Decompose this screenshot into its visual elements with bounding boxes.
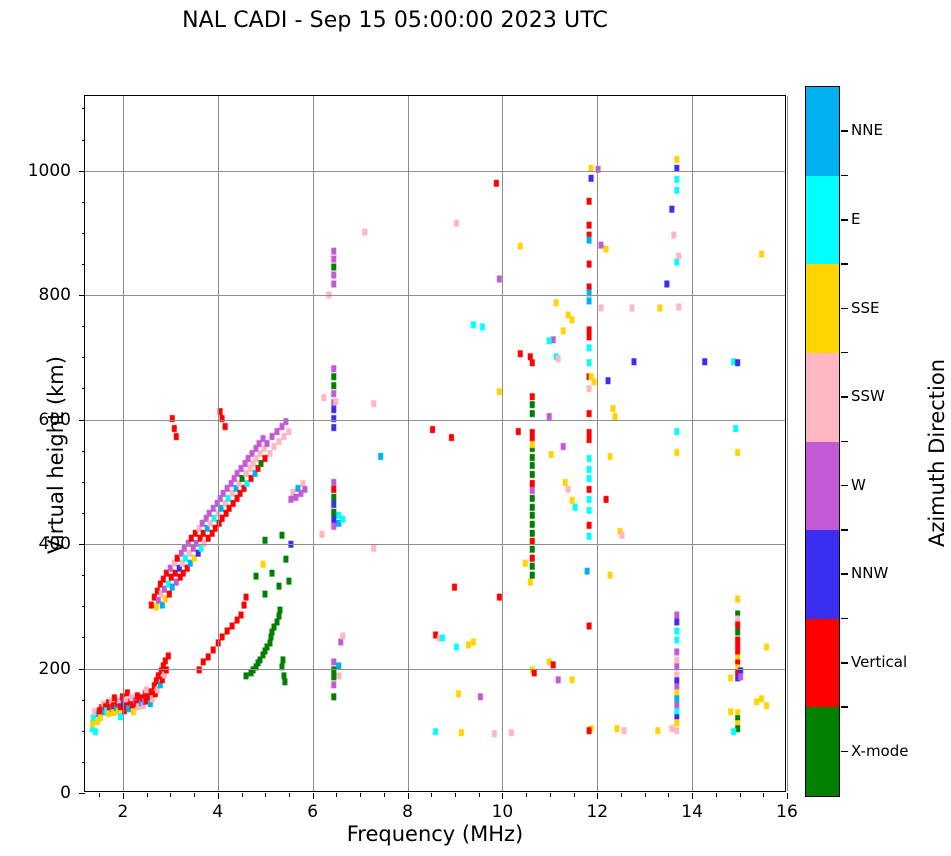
x-tick-label: 16 [776,802,798,822]
x-tick-minor [360,793,361,797]
y-tick-minor [82,731,86,732]
colorbar-segment-e [806,176,839,265]
x-tick-minor [384,793,385,797]
x-tick-minor [716,793,717,797]
y-tick-minor [82,326,86,327]
colorbar-label-e: E [851,210,860,228]
x-tick-minor [526,793,527,797]
x-tick-label: 10 [492,802,514,822]
x-tick [502,793,503,799]
y-tick-minor [82,606,86,607]
colorbar-segment-nne [806,87,839,176]
x-tick-label: 2 [118,802,129,822]
y-tick-minor [82,140,86,141]
y-tick [79,669,85,670]
x-tick-label: 4 [212,802,223,822]
y-tick-label: 800 [39,285,71,305]
gridline-vertical [787,96,788,791]
colorbar-tick [841,308,848,310]
x-tick-minor [668,793,669,797]
x-tick-minor [242,793,243,797]
colorbar-segment-sse [806,264,839,353]
ionogram-figure: NAL CADI - Sep 15 05:00:00 2023 UTC 2468… [0,0,951,856]
x-tick-minor [147,793,148,797]
x-axis-title: Frequency (MHz) [84,822,786,846]
colorbar-tick [841,396,848,398]
colorbar-title: Azimuth Direction [925,303,949,603]
colorbar-label-vertical: Vertical [851,653,907,671]
y-tick-minor [82,637,86,638]
y-tick-minor [82,108,86,109]
gridline-horizontal [85,295,785,296]
x-tick-minor [99,793,100,797]
x-tick [218,793,219,799]
gridline-vertical [502,96,503,791]
x-tick-minor [479,793,480,797]
gridline-vertical [597,96,598,791]
y-tick-label: 200 [39,659,71,679]
colorbar-label-w: W [851,476,866,494]
y-tick-minor [82,700,86,701]
colorbar-boundary-tick [841,263,848,265]
colorbar-boundary-tick [841,529,848,531]
colorbar-tick [841,751,848,753]
gridline-vertical [408,96,409,791]
x-tick-minor [431,793,432,797]
gridline-vertical [123,96,124,791]
x-tick-minor [645,793,646,797]
gridline-horizontal [85,420,785,421]
colorbar-segment-w [806,442,839,531]
colorbar-segment-nnw [806,530,839,619]
colorbar-segment-vertical [806,619,839,708]
y-tick-minor [82,513,86,514]
gridline-vertical [313,96,314,791]
x-tick [123,793,124,799]
y-tick-minor [82,575,86,576]
y-tick-minor [82,264,86,265]
colorbar-label-nne: NNE [851,121,883,139]
x-tick [692,793,693,799]
x-tick [313,793,314,799]
colorbar-label-sse: SSE [851,299,880,317]
x-tick-minor [289,793,290,797]
x-tick-minor [763,793,764,797]
colorbar-segment-x-mode [806,707,839,796]
colorbar-boundary-tick [841,175,848,177]
y-axis-title: Virtual height (km) [44,305,68,605]
colorbar-label-x-mode: X-mode [851,742,908,760]
y-tick [79,171,85,172]
x-tick-label: 12 [586,802,608,822]
x-tick [408,793,409,799]
plot-area: 24681012141602004006008001000 [84,95,786,792]
colorbar-boundary-tick [841,352,848,354]
colorbar-boundary-tick [841,618,848,620]
colorbar-tick [841,130,848,132]
gridline-vertical [218,96,219,791]
x-tick-minor [455,793,456,797]
x-tick [597,793,598,799]
colorbar-boundary-tick [841,706,848,708]
x-tick-minor [621,793,622,797]
y-tick [79,793,85,794]
y-tick-minor [82,357,86,358]
x-tick-minor [194,793,195,797]
x-tick-minor [740,793,741,797]
colorbar [805,86,840,797]
colorbar-tick [841,662,848,664]
y-tick-minor [82,762,86,763]
x-tick-minor [550,793,551,797]
y-tick-label: 1000 [28,161,71,181]
gridline-vertical [692,96,693,791]
x-tick-minor [170,793,171,797]
x-tick-label: 6 [307,802,318,822]
y-tick [79,544,85,545]
y-tick [79,420,85,421]
figure-title: NAL CADI - Sep 15 05:00:00 2023 UTC [0,8,790,33]
y-tick-minor [82,482,86,483]
x-tick [787,793,788,799]
y-tick-minor [82,451,86,452]
y-tick-label: 0 [60,783,71,803]
y-tick-minor [82,388,86,389]
colorbar-tick [841,485,848,487]
colorbar-tick [841,219,848,221]
colorbar-boundary-tick [841,441,848,443]
colorbar-label-ssw: SSW [851,387,885,405]
y-tick-minor [82,233,86,234]
colorbar-segment-ssw [806,353,839,442]
x-tick-minor [336,793,337,797]
colorbar-label-nnw: NNW [851,564,888,582]
gridline-horizontal [85,544,785,545]
colorbar-tick [841,573,848,575]
y-tick [79,295,85,296]
x-tick-label: 8 [402,802,413,822]
x-tick-minor [574,793,575,797]
y-tick-minor [82,202,86,203]
gridline-horizontal [85,669,785,670]
gridline-horizontal [85,171,785,172]
x-tick-minor [265,793,266,797]
scatter-canvas [85,96,785,791]
x-tick-label: 14 [681,802,703,822]
